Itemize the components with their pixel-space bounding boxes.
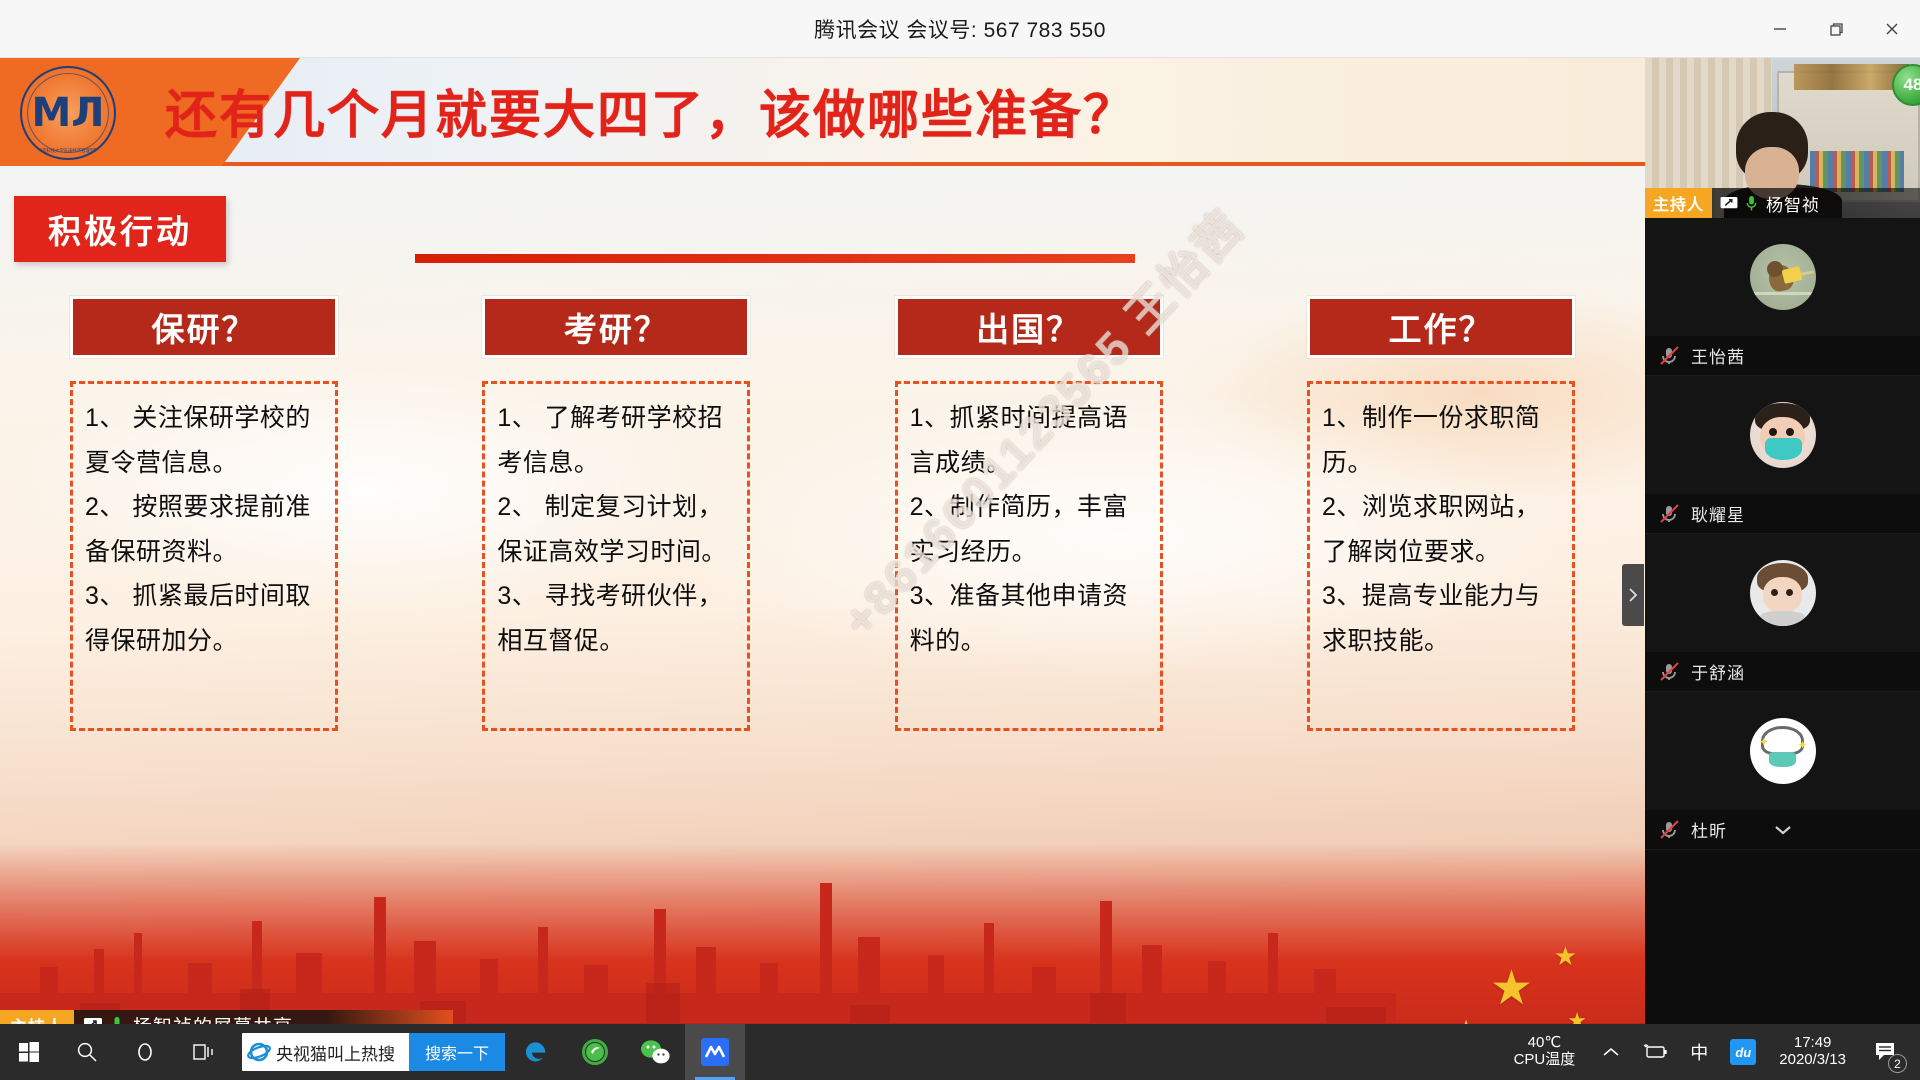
participant-row-3[interactable]: 杜昕 xyxy=(1645,810,1920,850)
screen-share-icon xyxy=(1719,196,1739,211)
section-tag: 积极行动 xyxy=(14,196,226,262)
clock-time: 17:49 xyxy=(1779,1035,1846,1052)
participant-name: 王怡茜 xyxy=(1691,343,1745,368)
column-heading: 保研？ xyxy=(70,296,338,358)
microphone-muted-icon xyxy=(1659,662,1681,682)
avatar xyxy=(1750,560,1816,626)
start-button[interactable] xyxy=(0,1024,58,1080)
participant-tile[interactable]: ✦ ✦ xyxy=(1645,692,1920,810)
column-heading: 工作？ xyxy=(1307,296,1575,358)
microphone-muted-icon xyxy=(1659,504,1681,524)
cpu-temperature[interactable]: 40℃ CPU温度 xyxy=(1498,1035,1592,1069)
wechat-icon xyxy=(639,1038,671,1066)
column-item: 2、浏览求职网站，了解岗位要求。 xyxy=(1322,485,1562,574)
column-item: 1、 关注保研学校的夏令营信息。 xyxy=(85,396,325,485)
task-view-button[interactable] xyxy=(174,1024,232,1080)
baidu-label: du xyxy=(1730,1039,1756,1065)
taskbar-search-box[interactable]: 央视猫叫上热搜 搜索一下 xyxy=(242,1033,505,1071)
column-body: 1、抓紧时间提高语言成绩。 2、制作简历，丰富实习经历。 3、准备其他申请资料的… xyxy=(895,381,1163,731)
participant-row-1[interactable]: 耿耀星 xyxy=(1645,494,1920,534)
battery-icon[interactable] xyxy=(1631,1024,1679,1080)
expand-participants-chevron-down-icon[interactable] xyxy=(1767,819,1799,841)
shared-screen-slide: МЛ 北京科技大学东凌经济管理学院 还有几个月就要大四了，该做哪些准备？ 积极行… xyxy=(0,58,1645,1058)
baidu-input-icon[interactable]: du xyxy=(1719,1024,1767,1080)
column-item: 1、抓紧时间提高语言成绩。 xyxy=(910,396,1150,485)
system-tray: 40℃ CPU温度 中 du 17:49 2020/3/13 xyxy=(1498,1024,1920,1080)
column-heading: 出国？ xyxy=(895,296,1163,358)
microphone-icon xyxy=(1745,195,1758,212)
avatar xyxy=(1750,244,1816,310)
cpu-temp-label: CPU温度 xyxy=(1514,1052,1576,1069)
clock-date: 2020/3/13 xyxy=(1779,1052,1846,1069)
host-badge: 主持人 xyxy=(1645,188,1712,218)
browser-360-icon xyxy=(580,1037,610,1067)
university-logo-icon: МЛ 北京科技大学东凌经济管理学院 xyxy=(20,66,116,160)
windows-logo-icon xyxy=(18,1041,40,1063)
slide-header: МЛ 北京科技大学东凌经济管理学院 还有几个月就要大四了，该做哪些准备？ xyxy=(0,58,1645,166)
host-tile-label: 主持人 杨智祯 xyxy=(1645,188,1920,218)
title-bar: 腾讯会议 会议号: 567 783 550 xyxy=(0,0,1920,58)
taskbar-app-edge[interactable] xyxy=(505,1024,565,1080)
participant-row-0[interactable]: 王怡茜 xyxy=(1645,336,1920,376)
collapse-panel-chevron-icon[interactable] xyxy=(1622,564,1644,626)
search-icon xyxy=(76,1041,98,1063)
taskbar-app-tencent-meeting[interactable] xyxy=(685,1024,745,1080)
task-view-icon xyxy=(191,1041,215,1063)
column-item: 1、制作一份求职简历。 xyxy=(1322,396,1562,485)
notification-icon: 2 xyxy=(1869,1035,1903,1069)
tencent-meeting-icon xyxy=(700,1037,730,1067)
slide-column-2: 出国？ 1、抓紧时间提高语言成绩。 2、制作简历，丰富实习经历。 3、准备其他申… xyxy=(895,296,1163,731)
microphone-muted-icon xyxy=(1659,820,1681,840)
search-query-text: 央视猫叫上热搜 xyxy=(276,1040,409,1065)
column-body: 1、制作一份求职简历。 2、浏览求职网站，了解岗位要求。 3、提高专业能力与求职… xyxy=(1307,381,1575,731)
star-icon: ★ xyxy=(1554,941,1577,972)
participant-panel: 48 主持人 xyxy=(1645,58,1920,1024)
column-body: 1、 了解考研学校招考信息。 2、 制定复习计划，保证高效学习时间。 3、 寻找… xyxy=(482,381,750,731)
edge-icon xyxy=(520,1037,550,1067)
participant-name: 杜昕 xyxy=(1691,817,1727,842)
section-row: 积极行动 xyxy=(0,196,1645,270)
avatar xyxy=(1750,402,1816,468)
notification-count: 2 xyxy=(1888,1054,1907,1073)
avatar: ✦ ✦ xyxy=(1750,718,1816,784)
section-rule xyxy=(415,254,1135,263)
participant-name: 耿耀星 xyxy=(1691,501,1745,526)
cortana-icon xyxy=(134,1041,156,1063)
column-heading: 考研？ xyxy=(482,296,750,358)
participant-name: 于舒涵 xyxy=(1691,659,1745,684)
host-tile-icons xyxy=(1719,195,1758,212)
clock[interactable]: 17:49 2020/3/13 xyxy=(1767,1035,1858,1069)
internet-explorer-icon xyxy=(242,1040,276,1064)
column-body: 1、 关注保研学校的夏令营信息。 2、 按照要求提前准备保研资料。 3、 抓紧最… xyxy=(70,381,338,731)
show-hidden-icons-chevron-up-icon[interactable] xyxy=(1591,1024,1631,1080)
column-item: 3、 抓紧最后时间取得保研加分。 xyxy=(85,574,325,663)
column-item: 2、 制定复习计划，保证高效学习时间。 xyxy=(497,485,737,574)
column-item: 3、 寻找考研伙伴，相互督促。 xyxy=(497,574,737,663)
video-tile-host[interactable]: 主持人 杨智祯 xyxy=(1645,58,1920,218)
search-button[interactable] xyxy=(58,1024,116,1080)
close-icon[interactable] xyxy=(1864,0,1920,58)
participant-tile[interactable] xyxy=(1645,534,1920,652)
search-go-button[interactable]: 搜索一下 xyxy=(409,1033,505,1071)
notification-center-button[interactable]: 2 xyxy=(1858,1024,1914,1080)
column-item: 3、准备其他申请资料的。 xyxy=(910,574,1150,663)
slide-columns: 保研？ 1、 关注保研学校的夏令营信息。 2、 按照要求提前准备保研资料。 3、… xyxy=(0,296,1645,731)
windows-taskbar: 央视猫叫上热搜 搜索一下 xyxy=(0,1024,1920,1080)
column-item: 3、提高专业能力与求职技能。 xyxy=(1322,574,1562,663)
window-title: 腾讯会议 会议号: 567 783 550 xyxy=(814,14,1106,44)
participant-tile[interactable] xyxy=(1645,376,1920,494)
participant-tile[interactable] xyxy=(1645,218,1920,336)
taskbar-app-360-browser[interactable] xyxy=(565,1024,625,1080)
slide-column-3: 工作？ 1、制作一份求职简历。 2、浏览求职网站，了解岗位要求。 3、提高专业能… xyxy=(1307,296,1575,731)
ime-indicator[interactable]: 中 xyxy=(1679,1024,1719,1080)
column-item: 1、 了解考研学校招考信息。 xyxy=(497,396,737,485)
host-name: 杨智祯 xyxy=(1766,191,1820,216)
participant-row-2[interactable]: 于舒涵 xyxy=(1645,652,1920,692)
microphone-muted-icon xyxy=(1659,346,1681,366)
column-item: 2、 按照要求提前准备保研资料。 xyxy=(85,485,325,574)
tencent-meeting-window: 腾讯会议 会议号: 567 783 550 xyxy=(0,0,1920,1080)
meeting-stage: МЛ 北京科技大学东凌经济管理学院 还有几个月就要大四了，该做哪些准备？ 积极行… xyxy=(0,58,1920,1024)
column-item: 2、制作简历，丰富实习经历。 xyxy=(910,485,1150,574)
maximize-icon[interactable] xyxy=(1808,0,1864,58)
slide-title: 还有几个月就要大四了，该做哪些准备？ xyxy=(165,73,1137,148)
star-icon: ★ xyxy=(1490,960,1533,1016)
window-controls xyxy=(1752,0,1920,58)
slide-column-1: 考研？ 1、 了解考研学校招考信息。 2、 制定复习计划，保证高效学习时间。 3… xyxy=(482,296,750,731)
logo-subtitle: 北京科技大学东凌经济管理学院 xyxy=(27,147,110,153)
taskbar-app-wechat[interactable] xyxy=(625,1024,685,1080)
slide-column-0: 保研？ 1、 关注保研学校的夏令营信息。 2、 按照要求提前准备保研资料。 3、… xyxy=(70,296,338,731)
cortana-button[interactable] xyxy=(116,1024,174,1080)
minimize-icon[interactable] xyxy=(1752,0,1808,58)
cpu-temp-value: 40℃ xyxy=(1514,1035,1576,1052)
